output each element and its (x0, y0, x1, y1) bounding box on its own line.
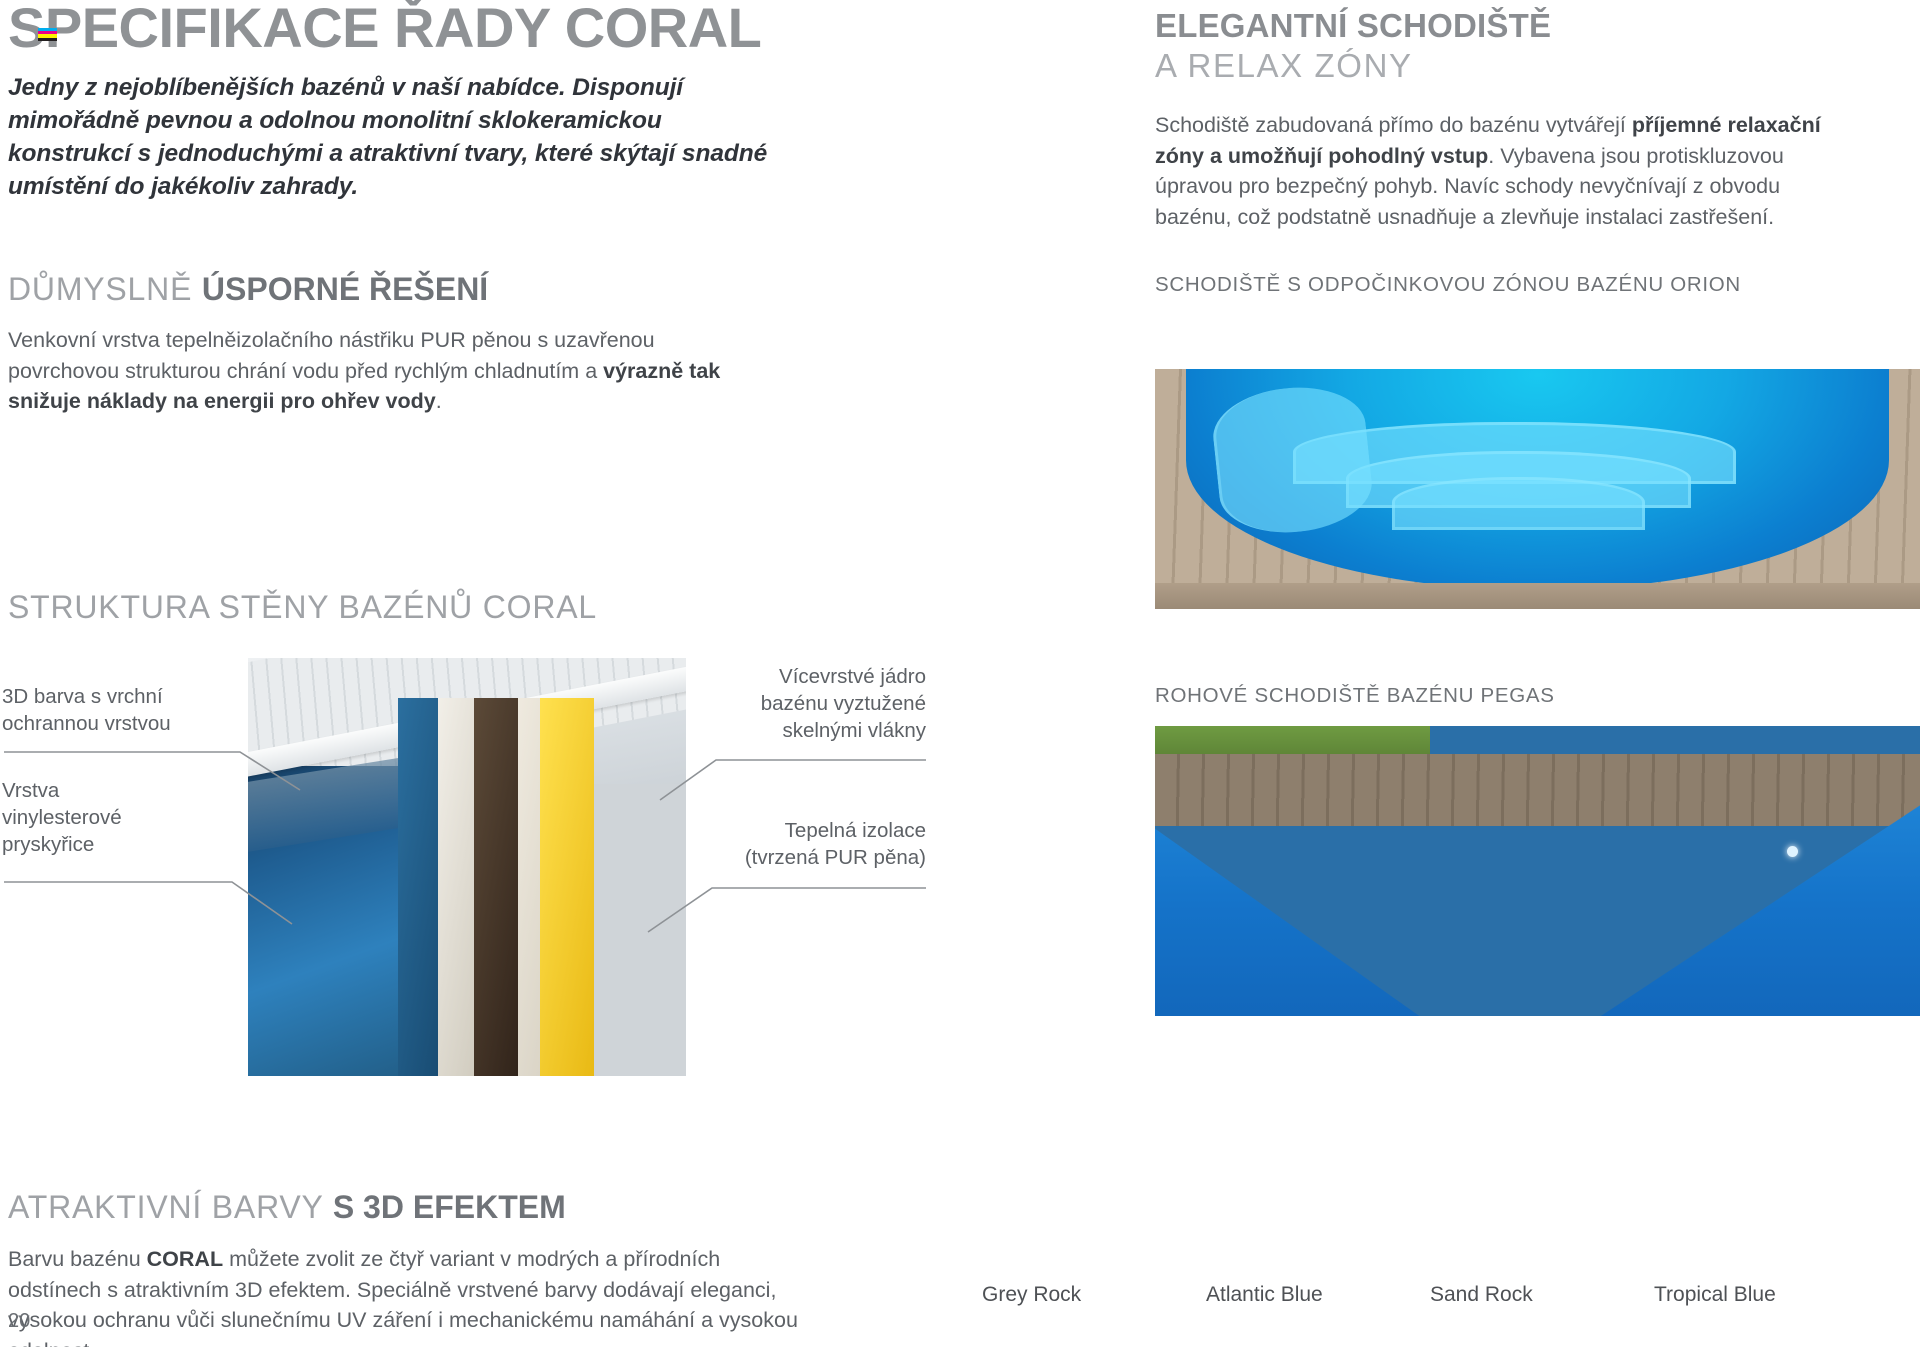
swatch-chip-grey-rock[interactable] (982, 1137, 1177, 1264)
right-body-paragraph: Schodiště zabudovaná přímo do bazénu vyt… (1155, 110, 1855, 233)
wall-structure-diagram: 3D barva s vrchní ochrannou vrstvou Vrst… (0, 640, 930, 1110)
section-body-energy-saving: Venkovní vrstva tepelněizolačního nástři… (8, 325, 768, 417)
section-body-attractive-colors: Barvu bazénu CORAL můžete zvolit ze čtyř… (8, 1244, 808, 1347)
heading-thin-part: DŮMYSLNĚ (8, 271, 202, 307)
right-body-part-1: Schodiště zabudovaná přímo do bazénu vyt… (1155, 113, 1632, 137)
brochure-page: SPECIFIKACE ŘADY CORAL Jedny z nejoblíbe… (0, 0, 1920, 1347)
callout-vinylester-line2: vinylesterové (2, 804, 202, 831)
callout-thermal-insulation: Tepelná izolace (tvrzená PUR pěna) (626, 817, 926, 871)
pool-light-icon (1787, 846, 1798, 857)
section-wall-structure: STRUKTURA STĚNY BAZÉNŮ CORAL (8, 590, 597, 625)
callout-fiberglass-core: Vícevrstvé jádro bazénu vyztužené skelný… (640, 663, 926, 744)
swatch-label-grey-rock: Grey Rock (982, 1283, 1177, 1307)
swatch-tropical-blue[interactable]: Tropical Blue (1654, 1137, 1849, 1317)
swatch-sand-rock[interactable]: Sand Rock (1430, 1137, 1625, 1317)
callout-insulation-line2: (tvrzená PUR pěna) (626, 844, 926, 871)
page-title: SPECIFIKACE ŘADY CORAL (8, 0, 930, 56)
callout-core-line1: Vícevrstvé jádro (640, 663, 926, 690)
callout-vinylester-line3: pryskyřice (2, 831, 202, 858)
section-heading-energy-saving: DŮMYSLNĚ ÚSPORNÉ ŘEŠENÍ (8, 272, 768, 307)
lead-paragraph: Jedny z nejoblíbenějších bazénů v naší n… (8, 72, 788, 204)
caption-orion: SCHODIŠTĚ S ODPOČINKOVOU ZÓNOU BAZÉNU OR… (1155, 273, 1920, 297)
section-heading-wall-structure: STRUKTURA STĚNY BAZÉNŮ CORAL (8, 590, 597, 625)
section-energy-saving: DŮMYSLNĚ ÚSPORNÉ ŘEŠENÍ Venkovní vrstva … (8, 272, 768, 417)
body-part-2: . (436, 389, 442, 413)
body-bold: CORAL (147, 1247, 223, 1271)
swatch-label-sand-rock: Sand Rock (1430, 1283, 1625, 1307)
caption-pegas: ROHOVÉ SCHODIŠTĚ BAZÉNU PEGAS (1155, 684, 1555, 708)
callout-3d-color-line1: 3D barva s vrchní (2, 683, 222, 710)
swatch-grey-rock[interactable]: Grey Rock (982, 1137, 1177, 1317)
section-heading-attractive-colors: ATRAKTIVNÍ BARVY S 3D EFEKTEM (8, 1190, 808, 1225)
body-part-1: Barvu bazénu (8, 1247, 147, 1271)
right-title-bold: ELEGANTNÍ SCHODIŠTĚ (1155, 8, 1920, 45)
color-swatch-list: Grey Rock Atlantic Blue Sand Rock Tropic… (982, 1137, 1912, 1317)
swatch-chip-atlantic-blue[interactable] (1206, 1137, 1401, 1264)
swatch-atlantic-blue[interactable]: Atlantic Blue (1206, 1137, 1401, 1317)
callout-3d-color: 3D barva s vrchní ochrannou vrstvou (2, 683, 222, 737)
callout-3d-color-line2: ochrannou vrstvou (2, 710, 222, 737)
cmyk-registration-icon (38, 28, 57, 41)
page-number: 20 (8, 1310, 30, 1333)
photo-pegas-pool (1155, 726, 1920, 1016)
swatch-label-tropical-blue: Tropical Blue (1654, 1283, 1849, 1307)
swatch-label-atlantic-blue: Atlantic Blue (1206, 1283, 1401, 1307)
callout-core-line3: skelnými vlákny (640, 717, 926, 744)
right-title-thin: A RELAX ZÓNY (1155, 47, 1920, 86)
section-attractive-colors: ATRAKTIVNÍ BARVY S 3D EFEKTEM Barvu bazé… (8, 1190, 808, 1347)
heading-bold-part: ÚSPORNÉ ŘEŠENÍ (202, 271, 488, 307)
swatch-chip-tropical-blue[interactable] (1654, 1137, 1849, 1264)
page-title-text: SPECIFIKACE ŘADY CORAL (8, 0, 761, 59)
photo-orion-pool (1155, 369, 1920, 609)
callout-vinylester-line1: Vrstva (2, 777, 202, 804)
heading-thin-part: ATRAKTIVNÍ BARVY (8, 1189, 333, 1225)
heading-bold-part: S 3D EFEKTEM (333, 1189, 566, 1225)
swatch-chip-sand-rock[interactable] (1430, 1137, 1625, 1264)
callout-insulation-line1: Tepelná izolace (626, 817, 926, 844)
body-part-1: Venkovní vrstva tepelněizolačního nástři… (8, 328, 655, 383)
callout-vinylester: Vrstva vinylesterové pryskyřice (2, 777, 202, 858)
callout-core-line2: bazénu vyztužené (640, 690, 926, 717)
